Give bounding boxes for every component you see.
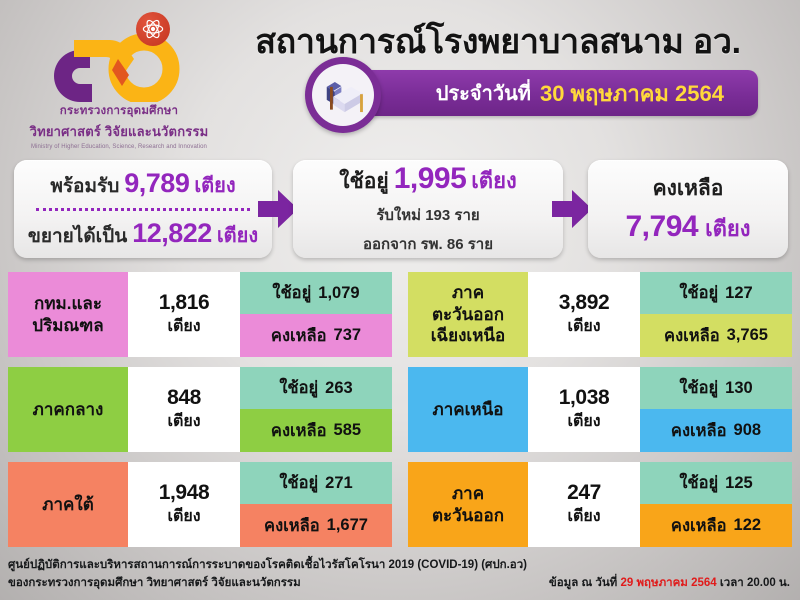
expandable-beds-label: ขยายได้เป็น xyxy=(28,221,127,251)
right-arrow-icon xyxy=(258,190,298,228)
region-remaining-value: 1,677 xyxy=(327,516,368,535)
total-beds-value: 1,816 xyxy=(159,291,210,315)
region-total-beds: 1,948 เตียง xyxy=(128,462,240,547)
table-row: ภาคกลาง 848 เตียง ใช้อยู่ 263 คงเหลือ 58… xyxy=(8,367,792,452)
region-in-use: ใช้อยู่ 271 xyxy=(240,462,392,504)
region-in-use: ใช้อยู่ 125 xyxy=(640,462,792,504)
date-banner: ประจำวันที่ 30 พฤษภาคม 2564 xyxy=(345,70,758,116)
ready-beds-row: พร้อมรับ 9,789 เตียง xyxy=(50,168,235,201)
page-title: สถานการณ์โรงพยาบาลสนาม อว. xyxy=(206,14,790,68)
region-block-bangkok: กทม.และ ปริมณฑล 1,816 เตียง ใช้อยู่ 1,07… xyxy=(8,272,392,357)
footer-data-timestamp: ข้อมูล ณ วันที่ 29 พฤษภาคม 2564 เวลา 20.… xyxy=(549,574,790,592)
region-name-line: เฉียงเหนือ xyxy=(431,325,506,347)
remaining-beds-value: 7,794 xyxy=(625,210,698,244)
footer: ศูนย์ปฏิบัติการและบริหารสถานการณ์การระบา… xyxy=(0,552,800,600)
region-in-use: ใช้อยู่ 127 xyxy=(640,272,792,314)
in-use-beds-value: 1,995 xyxy=(394,162,467,196)
region-in-use-value: 127 xyxy=(725,284,753,303)
table-row: กทม.และ ปริมณฑล 1,816 เตียง ใช้อยู่ 1,07… xyxy=(8,272,792,357)
data-as-of-time: เวลา 20.00 น. xyxy=(720,577,790,589)
ministry-logo-text: กระทรวงการอุดมศึกษา วิทยาศาสตร์ วิจัยและ… xyxy=(24,102,214,150)
remaining-beds-unit: เตียง xyxy=(705,211,750,246)
ministry-logo: กระทรวงการอุดมศึกษา วิทยาศาสตร์ วิจัยและ… xyxy=(24,6,214,142)
ready-beds-card: พร้อมรับ 9,789 เตียง ขยายได้เป็น 12,822 … xyxy=(14,160,272,258)
in-use-beds-card: ใช้อยู่ 1,995 เตียง รับใหม่ 193 ราย ออกจ… xyxy=(293,160,563,258)
region-remaining-label: คงเหลือ xyxy=(664,323,720,349)
date-value: 30 พฤษภาคม 2564 xyxy=(540,76,724,111)
region-name-line: กทม.และ xyxy=(32,293,103,315)
region-in-use-value: 130 xyxy=(725,379,753,398)
expandable-beds-row: ขยายได้เป็น 12,822 เตียง xyxy=(28,218,258,251)
total-beds-value: 1,038 xyxy=(559,386,610,410)
total-beds-value: 3,892 xyxy=(559,291,610,315)
region-in-use-label: ใช้อยู่ xyxy=(679,280,718,306)
region-total-beds: 1,816 เตียง xyxy=(128,272,240,357)
region-name-line: ตะวันออก xyxy=(431,304,506,326)
region-block-south: ภาคใต้ 1,948 เตียง ใช้อยู่ 271 คงเหลือ 1… xyxy=(8,462,392,547)
region-in-use-value: 125 xyxy=(725,474,753,493)
region-stats: ใช้อยู่ 130 คงเหลือ 908 xyxy=(640,367,792,452)
total-beds-unit: เตียง xyxy=(167,409,200,434)
region-total-beds: 247 เตียง xyxy=(528,462,640,547)
region-name-line: ภาคใต้ xyxy=(42,494,93,516)
region-name: ภาค ตะวันออก เฉียงเหนือ xyxy=(408,272,528,357)
region-remaining: คงเหลือ 908 xyxy=(640,409,792,452)
region-stats: ใช้อยู่ 1,079 คงเหลือ 737 xyxy=(240,272,392,357)
region-name-line: ตะวันออก xyxy=(432,505,504,527)
region-remaining-label: คงเหลือ xyxy=(271,323,327,349)
ready-beds-unit: เตียง xyxy=(194,169,235,201)
expandable-beds-value: 12,822 xyxy=(132,218,212,249)
region-in-use-label: ใช้อยู่ xyxy=(279,375,318,401)
region-table: กทม.และ ปริมณฑล 1,816 เตียง ใช้อยู่ 1,07… xyxy=(8,272,792,550)
region-remaining: คงเหลือ 3,765 xyxy=(640,314,792,357)
region-remaining-value: 737 xyxy=(334,326,362,345)
ready-beds-value: 9,789 xyxy=(124,168,189,199)
date-label: ประจำวันที่ xyxy=(436,77,531,109)
footer-line-1: ศูนย์ปฏิบัติการและบริหารสถานการณ์การระบา… xyxy=(8,556,527,574)
remaining-beds-label: คงเหลือ xyxy=(653,172,724,205)
region-in-use-value: 1,079 xyxy=(318,284,359,303)
footer-line-2: ของกระทรวงการอุดมศึกษา วิทยาศาสตร์ วิจัย… xyxy=(8,574,301,592)
expandable-beds-unit: เตียง xyxy=(217,219,258,251)
region-in-use: ใช้อยู่ 1,079 xyxy=(240,272,392,314)
region-remaining-label: คงเหลือ xyxy=(264,513,320,539)
region-stats: ใช้อยู่ 263 คงเหลือ 585 xyxy=(240,367,392,452)
region-block-northeast: ภาค ตะวันออก เฉียงเหนือ 3,892 เตียง ใช้อ… xyxy=(408,272,792,357)
region-name: ภาคเหนือ xyxy=(408,367,528,452)
ministry-name-th-2: วิทยาศาสตร์ วิจัยและนวัตกรรม xyxy=(24,121,214,142)
region-stats: ใช้อยู่ 271 คงเหลือ 1,677 xyxy=(240,462,392,547)
region-block-central: ภาคกลาง 848 เตียง ใช้อยู่ 263 คงเหลือ 58… xyxy=(8,367,392,452)
region-in-use-label: ใช้อยู่ xyxy=(272,280,311,306)
region-name-line: ภาค xyxy=(432,483,504,505)
region-remaining-value: 3,765 xyxy=(727,326,768,345)
region-in-use-label: ใช้อยู่ xyxy=(679,375,718,401)
region-remaining-value: 122 xyxy=(734,516,762,535)
total-beds-unit: เตียง xyxy=(567,504,600,529)
in-use-beds-unit: เตียง xyxy=(471,163,516,198)
ministry-name-en: Ministry of Higher Education, Science, R… xyxy=(24,144,214,150)
region-remaining: คงเหลือ 122 xyxy=(640,504,792,547)
region-in-use-value: 263 xyxy=(325,379,353,398)
total-beds-value: 1,948 xyxy=(159,481,210,505)
data-as-of-date: 29 พฤษภาคม 2564 xyxy=(620,577,716,589)
column-gap xyxy=(392,462,408,547)
ready-beds-label: พร้อมรับ xyxy=(50,171,119,201)
region-name-line: ปริมณฑล xyxy=(32,315,103,337)
region-remaining-label: คงเหลือ xyxy=(671,513,727,539)
in-use-beds-label: ใช้อยู่ xyxy=(339,165,388,198)
region-remaining-label: คงเหลือ xyxy=(671,418,727,444)
region-remaining: คงเหลือ 737 xyxy=(240,314,392,357)
region-stats: ใช้อยู่ 125 คงเหลือ 122 xyxy=(640,462,792,547)
right-arrow-icon xyxy=(552,190,592,228)
header: กระทรวงการอุดมศึกษา วิทยาศาสตร์ วิจัยและ… xyxy=(0,0,800,152)
region-block-east: ภาค ตะวันออก 247 เตียง ใช้อยู่ 125 คงเหล… xyxy=(408,462,792,547)
region-name-line: ภาค xyxy=(431,282,506,304)
region-in-use: ใช้อยู่ 263 xyxy=(240,367,392,409)
region-name: ภาคกลาง xyxy=(8,367,128,452)
region-remaining: คงเหลือ 585 xyxy=(240,409,392,452)
remaining-beds-card: คงเหลือ 7,794 เตียง xyxy=(588,160,788,258)
region-total-beds: 1,038 เตียง xyxy=(528,367,640,452)
hospital-bed-icon xyxy=(305,57,381,133)
ministry-name-th-1: กระทรวงการอุดมศึกษา xyxy=(24,102,214,120)
card-divider xyxy=(36,208,250,211)
region-total-beds: 3,892 เตียง xyxy=(528,272,640,357)
region-remaining: คงเหลือ 1,677 xyxy=(240,504,392,547)
discharged-text: ออกจาก รพ. 86 ราย xyxy=(363,232,493,256)
region-in-use: ใช้อยู่ 130 xyxy=(640,367,792,409)
region-name: ภาค ตะวันออก xyxy=(408,462,528,547)
total-beds-unit: เตียง xyxy=(167,314,200,339)
total-beds-unit: เตียง xyxy=(167,504,200,529)
region-remaining-label: คงเหลือ xyxy=(271,418,327,444)
total-beds-unit: เตียง xyxy=(567,314,600,339)
remaining-beds-row: 7,794 เตียง xyxy=(625,210,750,246)
region-block-north: ภาคเหนือ 1,038 เตียง ใช้อยู่ 130 คงเหลือ… xyxy=(408,367,792,452)
data-as-of-label: ข้อมูล ณ วันที่ xyxy=(549,577,617,589)
total-beds-value: 848 xyxy=(167,386,201,410)
region-remaining-value: 585 xyxy=(334,421,362,440)
region-name: กทม.และ ปริมณฑล xyxy=(8,272,128,357)
region-name: ภาคใต้ xyxy=(8,462,128,547)
table-row: ภาคใต้ 1,948 เตียง ใช้อยู่ 271 คงเหลือ 1… xyxy=(8,462,792,547)
region-in-use-label: ใช้อยู่ xyxy=(679,470,718,496)
total-beds-unit: เตียง xyxy=(567,409,600,434)
in-use-beds-row: ใช้อยู่ 1,995 เตียง xyxy=(339,162,516,198)
atom-icon xyxy=(136,12,170,46)
summary-cards: พร้อมรับ 9,789 เตียง ขยายได้เป็น 12,822 … xyxy=(0,160,800,262)
region-in-use-value: 271 xyxy=(325,474,353,493)
new-admissions-text: รับใหม่ 193 ราย xyxy=(376,203,479,227)
column-gap xyxy=(392,272,408,357)
column-gap xyxy=(392,367,408,452)
region-in-use-label: ใช้อยู่ xyxy=(279,470,318,496)
region-remaining-value: 908 xyxy=(734,421,762,440)
region-total-beds: 848 เตียง xyxy=(128,367,240,452)
region-name-line: ภาคกลาง xyxy=(33,399,104,421)
total-beds-value: 247 xyxy=(567,481,601,505)
region-stats: ใช้อยู่ 127 คงเหลือ 3,765 xyxy=(640,272,792,357)
region-name-line: ภาคเหนือ xyxy=(433,399,504,421)
